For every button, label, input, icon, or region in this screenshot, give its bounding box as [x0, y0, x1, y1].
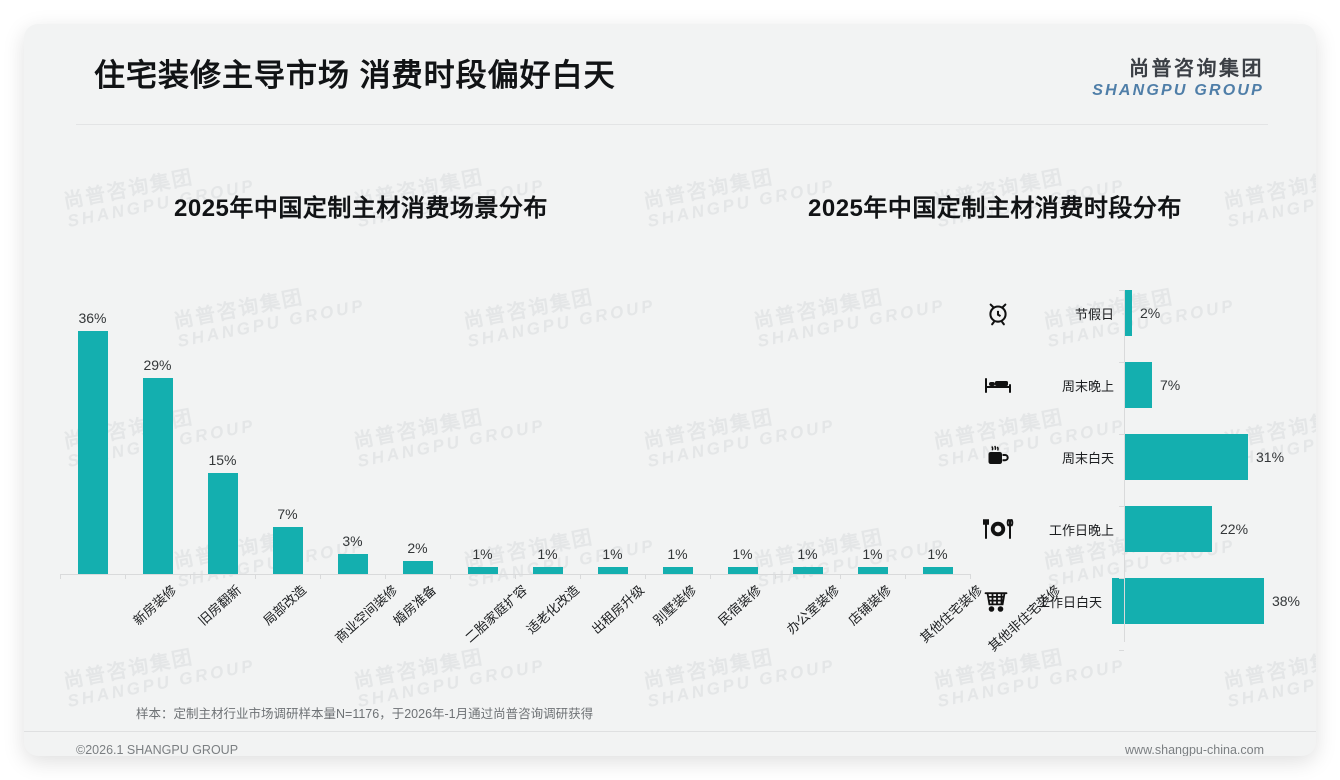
- axis-tick: [580, 574, 581, 579]
- bar-value-label: 1%: [667, 546, 687, 562]
- website-text: www.shangpu-china.com: [1125, 743, 1264, 756]
- axis-tick: [775, 574, 776, 579]
- axis-tick: [60, 574, 61, 579]
- bar-column[interactable]: 7%: [255, 274, 320, 574]
- brand-logo: 尚普咨询集团 SHANGPU GROUP: [1092, 52, 1264, 100]
- category-label: 办公室装修: [781, 580, 842, 638]
- axis-tick: [840, 574, 841, 579]
- bar-column[interactable]: 15%: [190, 274, 255, 574]
- time-slot-label: 周末晚上: [1026, 376, 1124, 395]
- axis-tick: [905, 574, 906, 579]
- dining-plate-icon: [970, 517, 1026, 541]
- bar-column[interactable]: 1%: [515, 274, 580, 574]
- bar-value-label: 2%: [1140, 305, 1160, 321]
- category-label: 出租房升级: [586, 580, 647, 638]
- bar-value-label: 7%: [1160, 377, 1180, 393]
- time-slot-label: 工作日白天: [1021, 592, 1112, 611]
- axis-tick: [1119, 290, 1124, 291]
- category-label: 旧房翻新: [193, 580, 244, 629]
- bar[interactable]: [1124, 290, 1132, 336]
- bar-value-label: 1%: [602, 546, 622, 562]
- right-chart-title: 2025年中国定制主材消费时段分布: [808, 188, 1182, 223]
- time-slot-label: 工作日晚上: [1026, 520, 1124, 539]
- logo-english-text: SHANGPU GROUP: [1092, 82, 1264, 100]
- bar-column[interactable]: 3%: [320, 274, 385, 574]
- time-slot-row[interactable]: 工作日晚上22%: [970, 502, 1300, 556]
- bar-value-label: 1%: [472, 546, 492, 562]
- bar[interactable]: [1124, 434, 1248, 480]
- bar[interactable]: [78, 331, 108, 574]
- axis-tick: [1119, 578, 1124, 579]
- axis-tick: [1119, 650, 1124, 651]
- logo-chinese-text: 尚普咨询集团: [1092, 52, 1264, 81]
- axis-tick: [645, 574, 646, 579]
- bar[interactable]: [1124, 362, 1152, 408]
- bar[interactable]: [208, 473, 238, 574]
- page-title: 住宅装修主导市场 消费时段偏好白天: [94, 50, 616, 95]
- axis-tick: [710, 574, 711, 579]
- report-card: 尚普咨询集团SHANGPU GROUP尚普咨询集团SHANGPU GROUP尚普…: [24, 24, 1316, 756]
- bar[interactable]: [273, 527, 303, 574]
- bar-value-label: 15%: [208, 452, 236, 468]
- bar[interactable]: [858, 567, 888, 574]
- left-chart-category-labels: 新房装修旧房翻新局部改造商业空间装修婚房准备二胎家庭扩容适老化改造出租房升级别墅…: [60, 580, 970, 680]
- bar-value-label: 1%: [927, 546, 947, 562]
- axis-tick: [1119, 434, 1124, 435]
- bar-column[interactable]: 1%: [580, 274, 645, 574]
- category-label: 适老化改造: [521, 580, 582, 638]
- bar-column[interactable]: 1%: [775, 274, 840, 574]
- bed-icon: [970, 374, 1026, 396]
- bar[interactable]: [468, 567, 498, 574]
- bar[interactable]: [338, 554, 368, 574]
- axis-tick: [125, 574, 126, 579]
- bar[interactable]: [663, 567, 693, 574]
- bar-column[interactable]: 2%: [385, 274, 450, 574]
- header: 住宅装修主导市场 消费时段偏好白天 尚普咨询集团 SHANGPU GROUP: [24, 24, 1316, 112]
- axis-tick: [1119, 506, 1124, 507]
- bar[interactable]: [1124, 506, 1212, 552]
- bar-column[interactable]: 36%: [60, 274, 125, 574]
- time-slot-row[interactable]: 工作日白天38%: [970, 574, 1300, 628]
- bar-value-label: 2%: [407, 540, 427, 556]
- axis-tick: [450, 574, 451, 579]
- category-label: 局部改造: [258, 580, 309, 629]
- bar-column[interactable]: 1%: [450, 274, 515, 574]
- scene-distribution-chart: 36%29%15%7%3%2%1%1%1%1%1%1%1%1%: [60, 274, 970, 574]
- time-slot-row[interactable]: 周末晚上7%: [970, 358, 1300, 412]
- bar-value-label: 7%: [277, 506, 297, 522]
- left-chart-title: 2025年中国定制主材消费场景分布: [174, 188, 548, 223]
- category-label: 二胎家庭扩容: [460, 580, 531, 646]
- bar-value-label: 1%: [797, 546, 817, 562]
- time-slot-label: 节假日: [1026, 304, 1124, 323]
- time-slot-row[interactable]: 节假日2%: [970, 286, 1300, 340]
- category-label: 婚房准备: [388, 580, 439, 629]
- bar-value-label: 3%: [342, 533, 362, 549]
- alarm-clock-icon: [970, 300, 1026, 326]
- header-divider: [76, 124, 1268, 125]
- shopping-cart-icon: [970, 588, 1021, 614]
- time-distribution-chart: 节假日2%周末晚上7%周末白天31%工作日晚上22%工作日白天38%: [970, 286, 1300, 636]
- bar-value-label: 36%: [78, 310, 106, 326]
- time-slot-row[interactable]: 周末白天31%: [970, 430, 1300, 484]
- bar-column[interactable]: 1%: [710, 274, 775, 574]
- bar[interactable]: [533, 567, 563, 574]
- bar-group: 36%29%15%7%3%2%1%1%1%1%1%1%1%1%: [60, 274, 970, 574]
- axis-tick: [190, 574, 191, 579]
- bar-value-label: 1%: [732, 546, 752, 562]
- time-slot-label: 周末白天: [1026, 448, 1124, 467]
- bar-column[interactable]: 29%: [125, 274, 190, 574]
- category-label: 店铺装修: [843, 580, 894, 629]
- sample-note: 样本：定制主材行业市场调研样本量N=1176，于2026年-1月通过尚普咨询调研…: [136, 703, 593, 722]
- bar[interactable]: [793, 567, 823, 574]
- bar[interactable]: [598, 567, 628, 574]
- axis-tick: [1119, 362, 1124, 363]
- bar-column[interactable]: 1%: [645, 274, 710, 574]
- bar-value-label: 38%: [1272, 593, 1300, 609]
- axis-tick: [385, 574, 386, 579]
- copyright-text: ©2026.1 SHANGPU GROUP: [76, 743, 238, 756]
- coffee-mug-icon: [970, 444, 1026, 470]
- bar-column[interactable]: 1%: [905, 274, 970, 574]
- bar-value-label: 1%: [537, 546, 557, 562]
- axis-tick: [320, 574, 321, 579]
- category-label: 民宿装修: [713, 580, 764, 629]
- bar-value-label: 31%: [1256, 449, 1284, 465]
- axis-tick: [970, 574, 971, 579]
- bar[interactable]: [143, 378, 173, 574]
- watermark: 尚普咨询集团SHANGPU GROUP: [1222, 156, 1316, 231]
- category-label: 新房装修: [128, 580, 179, 629]
- axis-tick: [255, 574, 256, 579]
- bar-column[interactable]: 1%: [840, 274, 905, 574]
- axis-tick: [515, 574, 516, 579]
- bar[interactable]: [1112, 578, 1264, 624]
- bar[interactable]: [923, 567, 953, 574]
- category-label: 别墅装修: [648, 580, 699, 629]
- bar-value-label: 29%: [143, 357, 171, 373]
- right-chart-axis: [1124, 290, 1125, 642]
- bar[interactable]: [403, 561, 433, 575]
- watermark: 尚普咨询集团SHANGPU GROUP: [1222, 636, 1316, 711]
- footer-divider: [24, 731, 1316, 732]
- bar-value-label: 22%: [1220, 521, 1248, 537]
- bar-value-label: 1%: [862, 546, 882, 562]
- bar[interactable]: [728, 567, 758, 574]
